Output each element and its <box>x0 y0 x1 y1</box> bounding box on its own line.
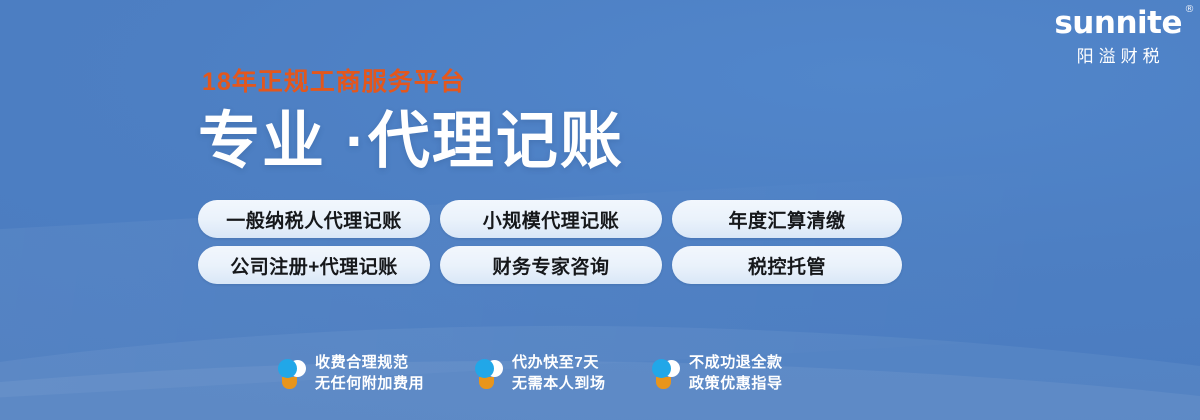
feature-list: 收费合理规范 无任何附加费用 代办快至7天 无需本人到场 不成功退全款 <box>276 352 783 395</box>
feature-item: 代办快至7天 无需本人到场 <box>473 352 628 395</box>
headline-block: 18年正规工商服务平台 专业 ·代理记账 <box>198 70 624 173</box>
brand-logo: sunnite ® 阳溢财税 <box>1054 8 1182 65</box>
feature-line-2: 政策优惠指导 <box>689 375 783 392</box>
badge-base-shape <box>479 377 494 389</box>
feature-item: 收费合理规范 无任何附加费用 <box>276 352 451 395</box>
badge-circle-icon <box>650 356 680 390</box>
service-pill[interactable]: 财务专家咨询 <box>440 246 662 284</box>
feature-text: 不成功退全款 政策优惠指导 <box>689 352 783 395</box>
feature-line-1: 收费合理规范 <box>315 354 409 371</box>
feature-line-1: 代办快至7天 <box>512 354 599 371</box>
feature-line-2: 无任何附加费用 <box>315 375 424 392</box>
feature-line-2: 无需本人到场 <box>512 375 606 392</box>
service-pill[interactable]: 税控托管 <box>672 246 902 284</box>
badge-base-shape <box>656 377 671 389</box>
feature-text: 收费合理规范 无任何附加费用 <box>315 352 424 395</box>
promo-banner: sunnite ® 阳溢财税 18年正规工商服务平台 专业 ·代理记账 一般纳税… <box>0 0 1200 420</box>
feature-item: 不成功退全款 政策优惠指导 <box>650 352 783 395</box>
feature-line-1: 不成功退全款 <box>689 354 783 371</box>
eyebrow-text: 18年正规工商服务平台 <box>202 70 624 95</box>
service-pill[interactable]: 一般纳税人代理记账 <box>198 200 430 238</box>
service-pill[interactable]: 公司注册+代理记账 <box>198 246 430 284</box>
badge-circle-icon <box>276 356 306 390</box>
logo-chinese-name: 阳溢财税 <box>1054 48 1182 65</box>
badge-circle-icon <box>473 356 503 390</box>
registered-trademark-icon: ® <box>1185 5 1195 15</box>
service-pill[interactable]: 小规模代理记账 <box>440 200 662 238</box>
service-pill-grid: 一般纳税人代理记账 小规模代理记账 年度汇算清缴 公司注册+代理记账 财务专家咨… <box>198 200 902 284</box>
background-wave-upper <box>0 270 1200 420</box>
logo-wordmark: sunnite ® <box>1054 8 1182 39</box>
feature-text: 代办快至7天 无需本人到场 <box>512 352 606 395</box>
page-title: 专业 ·代理记账 <box>198 111 624 173</box>
logo-wordmark-text: sunnite <box>1054 5 1182 41</box>
badge-base-shape <box>282 377 297 389</box>
service-pill[interactable]: 年度汇算清缴 <box>672 200 902 238</box>
